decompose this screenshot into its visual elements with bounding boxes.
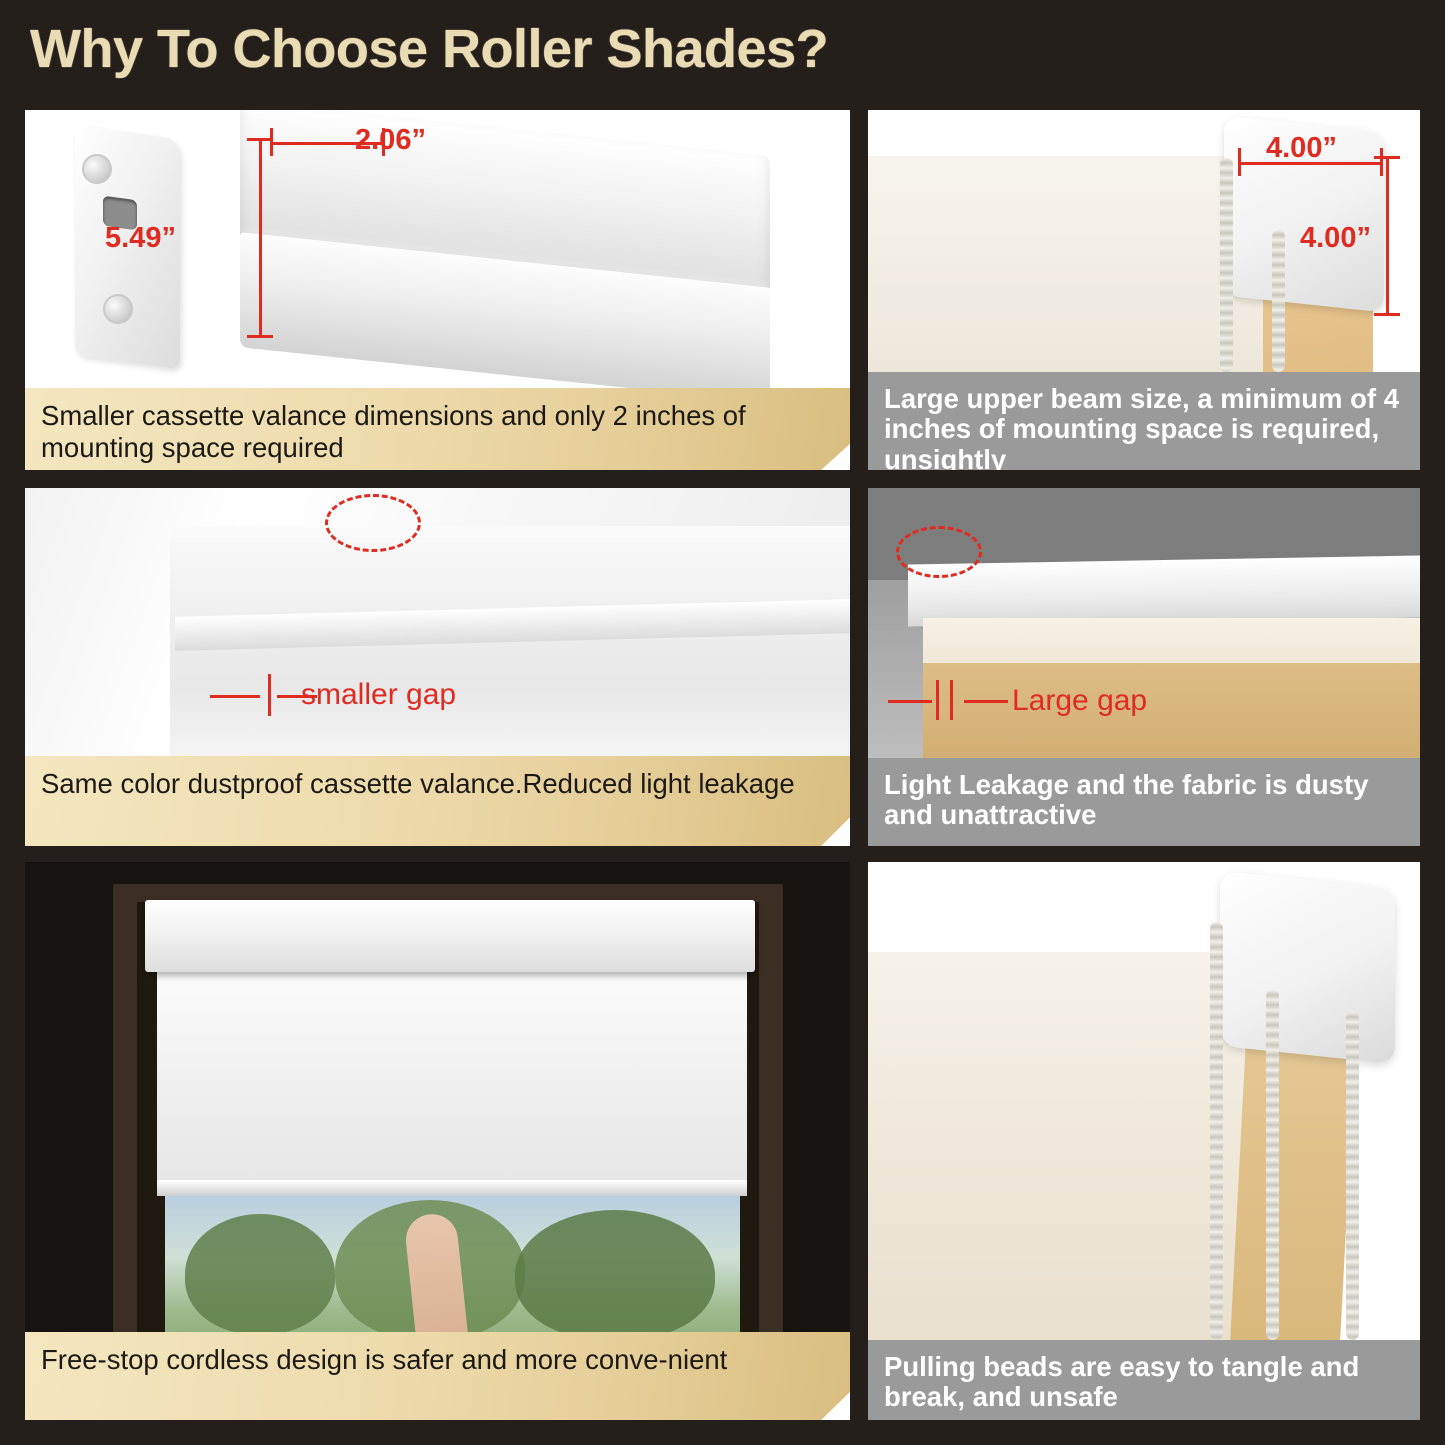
dim-width-tick-left <box>270 128 273 156</box>
gap-edge-line-a <box>936 680 939 720</box>
card-pulling-beads: Pulling beads are easy to tangle and bre… <box>868 862 1420 1420</box>
highlight-ellipse <box>325 494 421 552</box>
upper-beam <box>1220 871 1395 1064</box>
shade-fabric-dark <box>923 663 1420 758</box>
gap-label-large: Large gap <box>1012 684 1147 718</box>
card-1-photo: 2.06” 5.49” <box>25 110 850 388</box>
shade-bottom-bar <box>157 1180 747 1196</box>
highlight-ellipse <box>896 526 982 578</box>
dim-height-tick-top <box>247 138 273 141</box>
roller-shade-fabric <box>157 967 747 1187</box>
tree-shape-3 <box>515 1210 715 1332</box>
card-6-caption: Pulling beads are easy to tangle and bre… <box>868 1340 1420 1420</box>
card-3-photo: smaller gap <box>25 488 850 756</box>
gap-arrow-left <box>888 700 932 703</box>
card-3-caption: Same color dustproof cassette valance.Re… <box>25 756 850 846</box>
card-dustproof-valance: smaller gap Same color dustproof cassett… <box>25 488 850 846</box>
dim2-width-tick-left <box>1238 148 1241 176</box>
card-4-photo: Large gap <box>868 488 1420 758</box>
dim2-height-tick-top <box>1374 156 1400 159</box>
bead-chain-left <box>1220 158 1233 372</box>
card-smaller-cassette: 2.06” 5.49” Smaller cassette valance dim… <box>25 110 850 470</box>
card-5-caption: Free-stop cordless design is safer and m… <box>25 1332 850 1420</box>
bead-chain-right <box>1346 1012 1359 1340</box>
dim-width-label: 2.06” <box>355 124 426 157</box>
bead-chain-middle <box>1266 990 1279 1340</box>
dim2-height-tick-bottom <box>1374 313 1400 316</box>
dim2-width-label: 4.00” <box>1266 132 1337 165</box>
screw-bottom-icon <box>103 294 133 324</box>
gap-edge-line-b <box>950 680 953 720</box>
infographic-page: Why To Choose Roller Shades? 2.06” 5.49”… <box>0 0 1445 1445</box>
card-5-photo <box>25 862 850 1332</box>
bead-chain-right <box>1272 230 1285 372</box>
card-cordless-design: Free-stop cordless design is safer and m… <box>25 862 850 1420</box>
dim2-height-label: 4.00” <box>1300 222 1371 255</box>
card-2-caption: Large upper beam size, a minimum of 4 in… <box>868 372 1420 470</box>
cassette-valance <box>145 900 755 972</box>
dim-height-label: 5.49” <box>105 222 176 255</box>
card-1-caption: Smaller cassette valance dimensions and … <box>25 388 850 470</box>
dim-height-line <box>259 138 262 338</box>
valance-bar <box>908 556 1420 627</box>
card-2-photo: 4.00” 4.00” <box>868 110 1420 372</box>
card-4-caption: Light Leakage and the fabric is dusty an… <box>868 758 1420 846</box>
gap-edge-line <box>268 674 271 716</box>
card-large-beam: 4.00” 4.00” Large upper beam size, a min… <box>868 110 1420 470</box>
tree-shape-1 <box>185 1214 335 1332</box>
dim2-width-tick-right <box>1380 148 1383 176</box>
bead-chain-left <box>1210 922 1223 1340</box>
dim2-height-line <box>1386 156 1389 316</box>
screw-top-icon <box>82 154 112 184</box>
page-title: Why To Choose Roller Shades? <box>30 18 828 80</box>
gap-label-small: smaller gap <box>301 678 456 712</box>
dim-height-tick-bottom <box>247 335 273 338</box>
gap-arrow-right <box>964 700 1008 703</box>
card-6-photo <box>868 862 1420 1340</box>
shade-fabric-dark <box>1230 1042 1356 1340</box>
gap-arrow-left <box>210 695 260 698</box>
card-light-leakage: Large gap Light Leakage and the fabric i… <box>868 488 1420 846</box>
